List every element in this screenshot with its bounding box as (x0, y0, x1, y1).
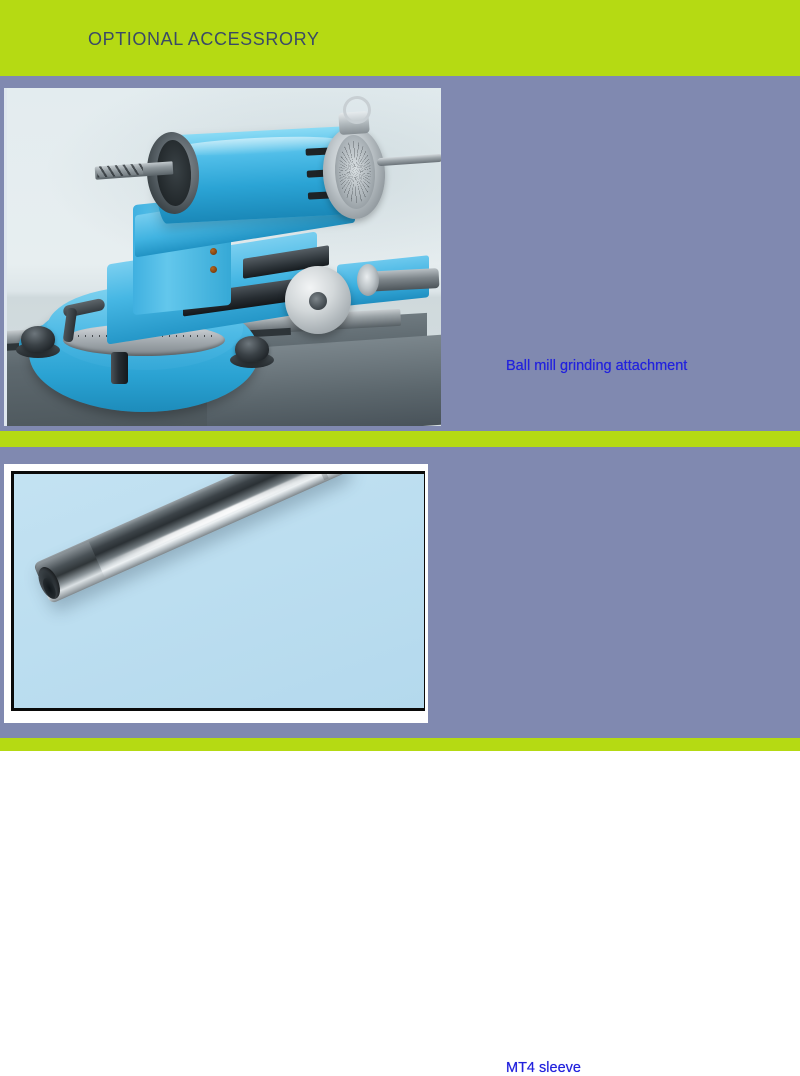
mt4-sleeve-specular-highlight (99, 471, 324, 571)
product-row-ball-mill: Ball mill grinding attachment (0, 88, 800, 426)
mt4-sleeve-tang-end (323, 471, 358, 472)
ball-mill-photo-scene (7, 88, 441, 426)
mt4-sleeve-body (33, 471, 351, 604)
caption-mt4-sleeve: MT4 sleeve (506, 1060, 581, 1076)
page-title: OPTIONAL ACCESSRORY (88, 29, 319, 50)
optional-accessory-page: OPTIONAL ACCESSRORY (0, 0, 800, 751)
mt4-photo-border (11, 471, 427, 711)
divider-band (0, 431, 800, 447)
clamp-nut-left (21, 326, 55, 352)
product-photo-ball-mill-grinding-attachment (4, 88, 441, 426)
footer-band (0, 738, 800, 751)
mt4-photo-scene (14, 474, 424, 708)
handwheel-hub (309, 292, 327, 310)
caption-ball-mill-grinding-attachment: Ball mill grinding attachment (506, 358, 687, 374)
clamp-nut-right (235, 336, 269, 362)
product-row-mt4-sleeve: MT4 sleeve (0, 464, 800, 723)
locating-pin (111, 352, 128, 384)
hex-bolt-lower (210, 266, 217, 273)
mt4-sleeve-bore-inner (40, 576, 58, 600)
mt4-sleeve-bore (34, 564, 64, 602)
product-photo-mt4-sleeve (4, 464, 428, 723)
mt4-sleeve-taper-end (34, 541, 105, 602)
tailstock-cap (357, 264, 379, 296)
hex-bolt-upper (210, 248, 217, 255)
